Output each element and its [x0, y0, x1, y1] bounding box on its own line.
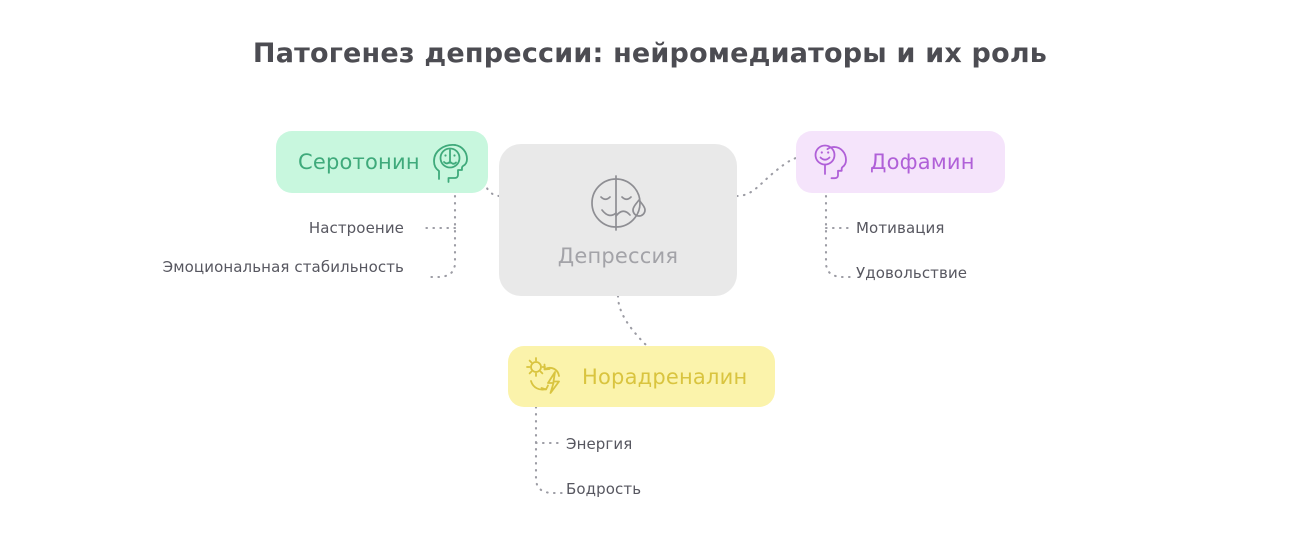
- leaf-dopamine-motivation: Мотивация: [856, 219, 945, 237]
- leaf-norepinephrine-vigor: Бодрость: [566, 480, 641, 498]
- leaf-dopamine-pleasure: Удовольствие: [856, 264, 967, 282]
- smiley-head-profile-icon: [812, 141, 856, 183]
- page-title: Патогенез депрессии: нейромедиаторы и их…: [0, 38, 1300, 69]
- node-depression[interactable]: Депрессия: [499, 144, 737, 296]
- connector-serotonin-trunk: [428, 196, 455, 277]
- split-sad-happy-face-icon: [582, 172, 654, 234]
- connector-center-to-dopamine: [737, 158, 796, 196]
- node-norepinephrine[interactable]: Норадреналин: [508, 346, 775, 407]
- node-norepinephrine-label: Норадреналин: [582, 365, 747, 389]
- leaf-norepinephrine-energy: Энергия: [566, 435, 632, 453]
- node-dopamine-label: Дофамин: [870, 150, 975, 174]
- leaf-serotonin-emotional-stability: Эмоциональная стабильность: [0, 258, 404, 276]
- leaf-serotonin-mood: Настроение: [0, 219, 404, 237]
- connector-dopamine-trunk: [826, 196, 853, 277]
- node-dopamine[interactable]: Дофамин: [796, 131, 1005, 193]
- connector-center-to-norepinephrine: [618, 296, 651, 349]
- node-serotonin[interactable]: Серотонин: [276, 131, 488, 193]
- sun-lightning-cycle-icon: [522, 355, 570, 399]
- connector-norepinephrine-trunk: [536, 407, 563, 493]
- diagram-canvas: Патогенез депрессии: нейромедиаторы и их…: [0, 0, 1300, 546]
- node-depression-label: Депрессия: [558, 244, 678, 268]
- node-serotonin-label: Серотонин: [298, 150, 420, 174]
- head-with-face-icon: [430, 141, 470, 183]
